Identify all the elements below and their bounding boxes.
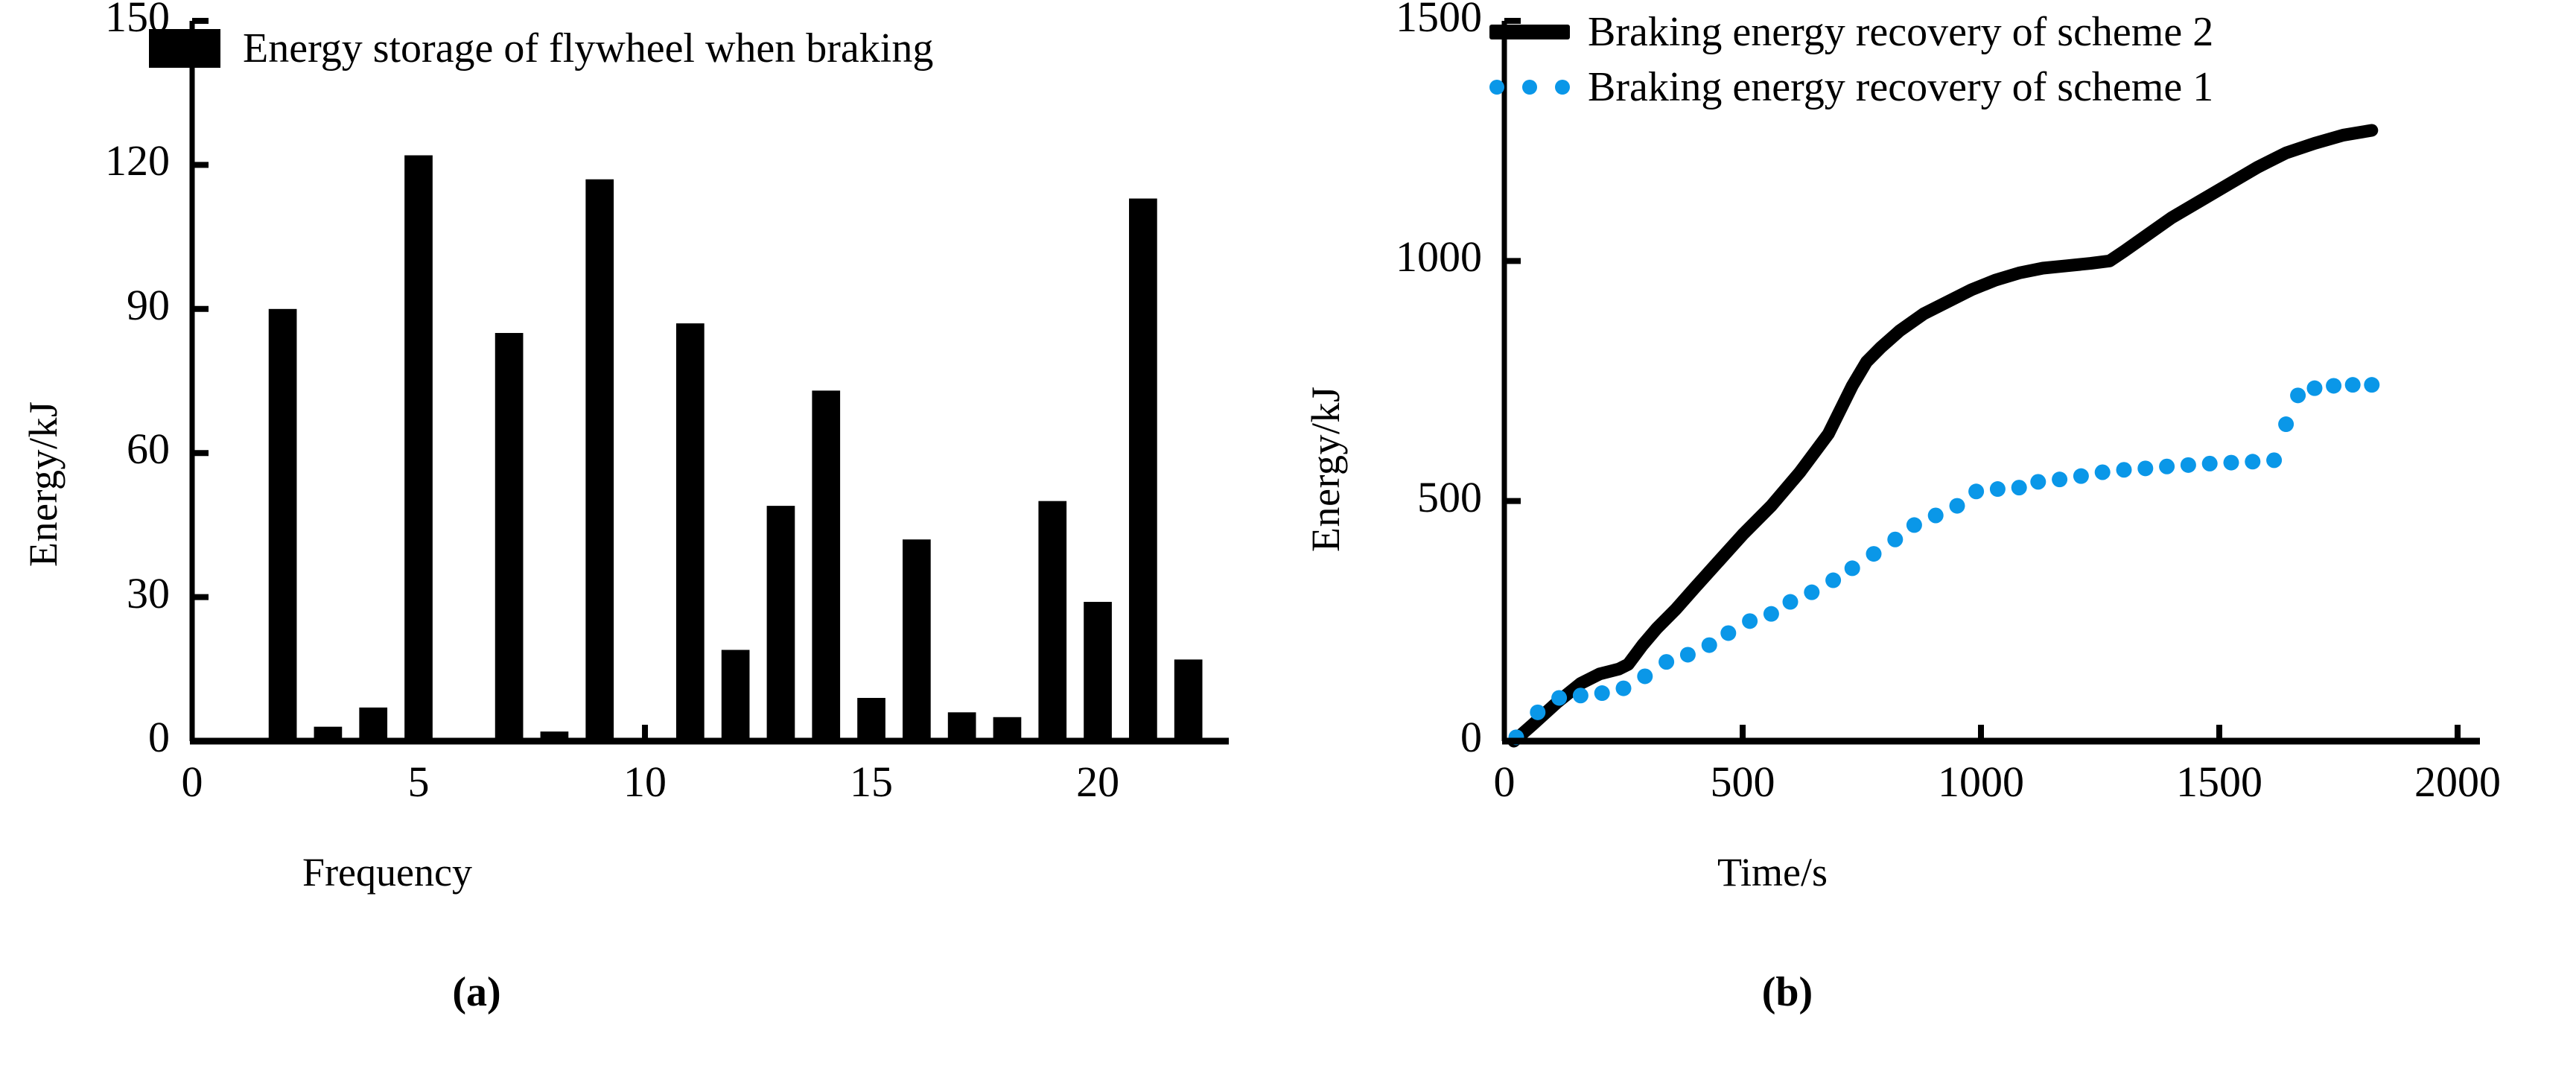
data-point bbox=[2159, 459, 2175, 474]
bar bbox=[1038, 501, 1066, 741]
series-line-scheme2 bbox=[1514, 130, 2372, 741]
x-tick-label: 20 bbox=[1008, 760, 1187, 804]
data-point bbox=[1783, 594, 1799, 610]
data-point bbox=[2266, 452, 2282, 468]
legend-item-scheme1: Braking energy recovery of scheme 1 bbox=[1489, 60, 2213, 115]
data-point bbox=[2137, 460, 2153, 476]
legend-item-flywheel: Energy storage of flywheel when braking bbox=[149, 21, 933, 76]
data-point bbox=[2011, 480, 2027, 495]
x-axis-title-a: Frequency bbox=[119, 849, 655, 895]
data-point bbox=[1887, 532, 1903, 547]
y-tick-label: 1000 bbox=[1273, 235, 1482, 279]
plot-area-a bbox=[0, 0, 1266, 1086]
y-tick-label: 0 bbox=[1273, 716, 1482, 759]
data-point bbox=[2202, 456, 2218, 471]
data-point bbox=[1825, 573, 1841, 588]
y-tick-label: 60 bbox=[0, 428, 170, 471]
data-point bbox=[1594, 685, 1610, 701]
bar bbox=[495, 333, 524, 741]
bar bbox=[1084, 602, 1112, 741]
dotted-line-swatch-icon bbox=[1489, 80, 1570, 95]
x-tick-label: 15 bbox=[782, 760, 961, 804]
data-point bbox=[2030, 474, 2046, 489]
data-point bbox=[2345, 377, 2361, 393]
x-tick-label: 2000 bbox=[2353, 760, 2562, 804]
data-point bbox=[1680, 647, 1696, 662]
bar bbox=[812, 390, 840, 741]
data-point bbox=[1866, 546, 1882, 562]
legend-a: Energy storage of flywheel when braking bbox=[149, 21, 933, 76]
y-tick-label: 30 bbox=[0, 572, 170, 615]
legend-item-scheme2: Braking energy recovery of scheme 2 bbox=[1489, 4, 2213, 60]
panel-caption-b: (b) bbox=[1728, 968, 1847, 1016]
data-point bbox=[2095, 464, 2111, 480]
data-point bbox=[1845, 560, 1860, 576]
x-tick-label: 500 bbox=[1638, 760, 1847, 804]
bar bbox=[585, 180, 614, 741]
x-axis-title-b: Time/s bbox=[1549, 849, 1996, 895]
data-point bbox=[1702, 638, 1717, 653]
data-point bbox=[1659, 654, 1674, 670]
data-point bbox=[2278, 416, 2294, 432]
data-point bbox=[1950, 498, 1965, 514]
panel-a: Energy/kJ Frequency (a) Energy storage o… bbox=[0, 0, 1266, 1086]
x-tick-label: 0 bbox=[1400, 760, 1609, 804]
data-point bbox=[1906, 517, 1922, 533]
bar bbox=[359, 708, 387, 741]
x-tick-label: 1000 bbox=[1877, 760, 2085, 804]
data-point bbox=[1573, 688, 1588, 703]
data-point bbox=[1742, 613, 1758, 629]
x-tick-label: 5 bbox=[329, 760, 508, 804]
data-point bbox=[2290, 387, 2306, 403]
data-point bbox=[2224, 455, 2239, 471]
bar bbox=[404, 156, 433, 741]
bar bbox=[722, 650, 750, 741]
y-tick-label: 0 bbox=[0, 716, 170, 759]
series-dots-scheme1 bbox=[1509, 377, 2380, 745]
data-point bbox=[1968, 483, 1984, 499]
data-point bbox=[2052, 471, 2067, 487]
x-tick-label: 0 bbox=[103, 760, 282, 804]
bar bbox=[767, 506, 795, 741]
data-point bbox=[1616, 681, 1632, 696]
panel-caption-a: (a) bbox=[417, 968, 536, 1016]
data-point bbox=[1720, 625, 1736, 641]
bar bbox=[1174, 659, 1203, 741]
data-point bbox=[1637, 668, 1653, 684]
legend-label-flywheel: Energy storage of flywheel when braking bbox=[243, 28, 933, 69]
data-point bbox=[2181, 457, 2196, 473]
bar bbox=[993, 717, 1022, 741]
data-point bbox=[2364, 377, 2379, 393]
data-point bbox=[1551, 690, 1567, 705]
legend-b: Braking energy recovery of scheme 2 Brak… bbox=[1489, 4, 2213, 115]
bar bbox=[903, 539, 931, 741]
figure-container: Energy/kJ Frequency (a) Energy storage o… bbox=[0, 0, 2576, 1086]
data-point bbox=[2117, 462, 2132, 477]
data-point bbox=[2326, 378, 2341, 393]
panel-b: Energy/kJ Time/s (b) Braking energy reco… bbox=[1266, 0, 2576, 1086]
bar bbox=[948, 712, 976, 741]
legend-label-scheme1: Braking energy recovery of scheme 1 bbox=[1588, 66, 2213, 108]
y-tick-label: 1500 bbox=[1273, 0, 1482, 39]
bar bbox=[676, 323, 705, 741]
data-point bbox=[1804, 585, 1819, 600]
data-point bbox=[1530, 705, 1545, 720]
data-point bbox=[2307, 381, 2323, 396]
data-point bbox=[1764, 606, 1779, 622]
y-tick-label: 500 bbox=[1273, 476, 1482, 519]
data-point bbox=[1928, 508, 1944, 524]
y-tick-label: 90 bbox=[0, 284, 170, 327]
bar bbox=[1129, 199, 1157, 741]
legend-label-scheme2: Braking energy recovery of scheme 2 bbox=[1588, 11, 2213, 53]
data-point bbox=[1990, 481, 2006, 497]
y-tick-label: 120 bbox=[0, 139, 170, 182]
y-tick-label: 150 bbox=[0, 0, 170, 39]
x-tick-label: 1500 bbox=[2115, 760, 2324, 804]
x-tick-label: 10 bbox=[556, 760, 734, 804]
plot-area-b bbox=[1266, 0, 2576, 1086]
data-point bbox=[2073, 469, 2089, 484]
data-point bbox=[2245, 454, 2260, 469]
bar bbox=[269, 309, 297, 741]
solid-line-swatch-icon bbox=[1489, 25, 1570, 39]
